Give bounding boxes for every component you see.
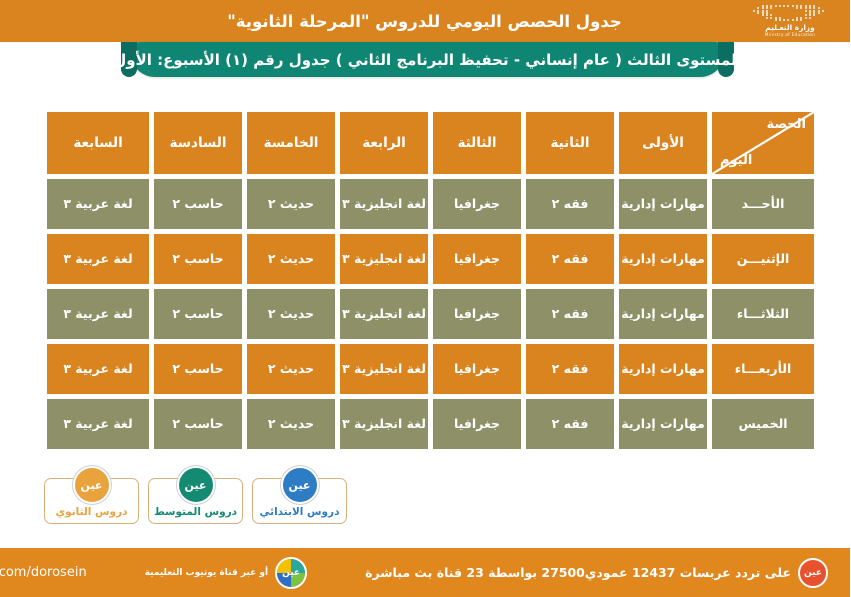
ministry-name-arabic: وزارة التعـليم [766,23,815,32]
subject-cell: حاسب ٢ [155,234,243,284]
footer-bar: عين على تردد عربسات 12437 عمودي27500 بوا… [0,548,851,597]
badge-primary[interactable]: عين دروس الابتدائي [253,478,348,524]
subject-cell: لغة عربية ٣ [48,234,150,284]
table-row: الثلاثـــاء مهارات إدارية فقه ٢ جغرافيا … [35,289,815,339]
period-header-4: الرابعة [341,112,429,174]
ayn-multicolor-label: عين [283,568,301,578]
subject-cell: حديث ٢ [248,344,336,394]
period-header-5: الخامسة [248,112,336,174]
subject-cell: مهارات إدارية [620,289,708,339]
badge-intermediate[interactable]: عين دروس المتوسط [149,478,244,524]
subject-cell: لغة انجليزية ٣ [341,344,429,394]
period-header-3: الثالثة [434,112,522,174]
subject-cell: لغة عربية ٣ [48,399,150,449]
app-header: جدول الحصص اليومي للدروس "المرحلة الثانو… [0,0,851,42]
subject-cell: جغرافيا [434,234,522,284]
level-banner: المستوى الثالث ( عام إنساني - تحفيظ البر… [131,42,726,77]
badge-label: دروس الثانوي [56,506,128,518]
ministry-of-education-logo: وزارة التعـليم Ministry of Education [745,3,837,39]
period-header-6: السادسة [155,112,243,174]
day-cell-sunday: الأحـــد [713,179,815,229]
subject-cell: فقه ٢ [527,399,615,449]
subject-cell: لغة انجليزية ٣ [341,289,429,339]
subject-cell: حديث ٢ [248,289,336,339]
ministry-name-english: Ministry of Education [766,32,816,37]
schedule-table: الحصة اليوم الأولى الثانية الثالثة الراب… [35,112,815,449]
table-header-row: الحصة اليوم الأولى الثانية الثالثة الراب… [35,112,815,174]
corner-day-label: اليوم [721,153,753,169]
footer-broadcast-group: عين على تردد عربسات 12437 عمودي27500 بوا… [366,558,829,588]
badge-label: دروس الابتدائي [261,506,341,518]
table-row: الإثنيـــن مهارات إدارية فقه ٢ جغرافيا ل… [35,234,815,284]
table-row: الأربعـــاء مهارات إدارية فقه ٢ جغرافيا … [35,344,815,394]
program-badges: عين دروس الثانوي عين دروس المتوسط عين در… [45,478,348,524]
subject-cell: فقه ٢ [527,234,615,284]
subject-cell: حاسب ٢ [155,289,243,339]
ayn-logo-icon: عين [178,466,216,504]
period-header-2: الثانية [527,112,615,174]
subject-cell: فقه ٢ [527,179,615,229]
subject-cell: جغرافيا [434,179,522,229]
subject-cell: لغة عربية ٣ [48,179,150,229]
subject-cell: جغرافيا [434,289,522,339]
subject-cell: لغة عربية ٣ [48,289,150,339]
subject-cell: لغة انجليزية ٣ [341,399,429,449]
subject-cell: مهارات إدارية [620,234,708,284]
subject-cell: مهارات إدارية [620,179,708,229]
subject-cell: حديث ٢ [248,179,336,229]
subject-cell: جغرافيا [434,399,522,449]
badge-secondary[interactable]: عين دروس الثانوي [45,478,140,524]
badge-label: دروس المتوسط [155,506,238,518]
footer-youtube-group: عين أو عبر قناة يوتيوب التعليمية [146,557,308,589]
subject-cell: حديث ٢ [248,234,336,284]
table-row: الأحـــد مهارات إدارية فقه ٢ جغرافيا لغة… [35,179,815,229]
corner-header-cell: الحصة اليوم [713,112,815,174]
subject-cell: حاسب ٢ [155,344,243,394]
subject-cell: فقه ٢ [527,344,615,394]
footer-youtube-text: أو عبر قناة يوتيوب التعليمية [146,568,269,578]
table-row: الخميس مهارات إدارية فقه ٢ جغرافيا لغة ا… [35,399,815,449]
banner-region: المستوى الثالث ( عام إنساني - تحفيظ البر… [0,42,851,80]
level-banner-text: المستوى الثالث ( عام إنساني - تحفيظ البر… [114,51,743,69]
corner-period-label: الحصة [768,117,807,133]
day-cell-wednesday: الأربعـــاء [713,344,815,394]
subject-cell: جغرافيا [434,344,522,394]
subject-cell: فقه ٢ [527,289,615,339]
subject-cell: لغة انجليزية ٣ [341,234,429,284]
footer-broadcast-text: على تردد عربسات 12437 عمودي27500 بواسطة … [366,565,792,580]
subject-cell: مهارات إدارية [620,344,708,394]
period-header-1: الأولى [620,112,708,174]
day-cell-thursday: الخميس [713,399,815,449]
subject-cell: لغة عربية ٣ [48,344,150,394]
ayn-logo-icon: عين [282,466,320,504]
ayn-multicolor-icon: عين [276,557,308,589]
page-title: جدول الحصص اليومي للدروس "المرحلة الثانو… [228,12,623,31]
subject-cell: لغة انجليزية ٣ [341,179,429,229]
subject-cell: مهارات إدارية [620,399,708,449]
period-header-7: السابعة [48,112,150,174]
day-cell-tuesday: الثلاثـــاء [713,289,815,339]
day-cell-monday: الإثنيـــن [713,234,815,284]
ayn-logo-icon: عين [74,466,112,504]
palm-dots-icon [754,5,828,22]
footer-youtube-url[interactable]: http://youtube.com/dorosein [0,565,88,580]
ayn-channel-icon: عين [799,558,829,588]
subject-cell: حاسب ٢ [155,179,243,229]
subject-cell: حديث ٢ [248,399,336,449]
subject-cell: حاسب ٢ [155,399,243,449]
